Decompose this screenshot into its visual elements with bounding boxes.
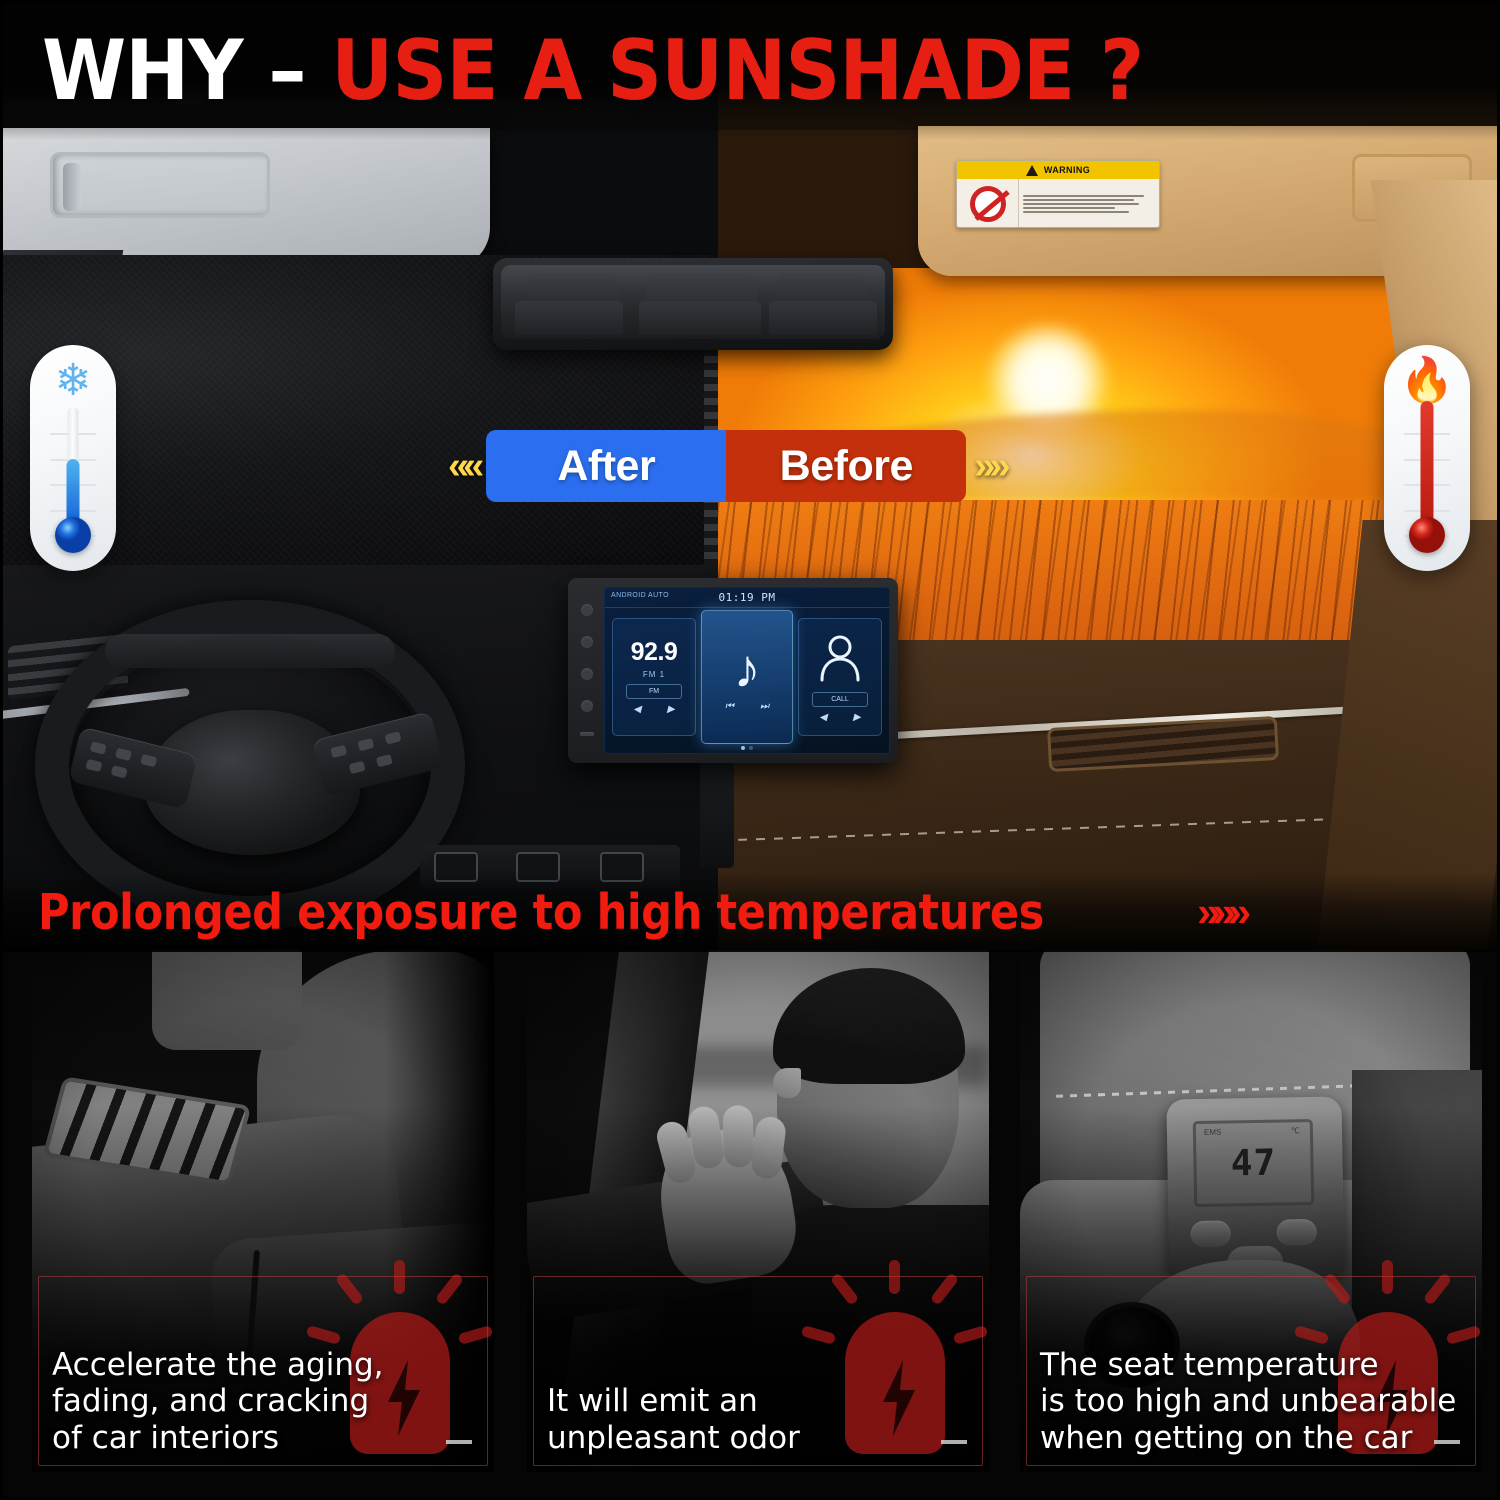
panel-caption-text: Accelerate the aging, fading, and cracki… <box>52 1347 480 1456</box>
wheel-button <box>140 754 157 767</box>
warning-label-lines <box>1019 179 1159 228</box>
visor-ticket-slot <box>50 152 270 218</box>
menu-button-icon[interactable] <box>581 636 593 648</box>
panel-unpleasant-odor: It will emit an unpleasant odor <box>527 950 989 1472</box>
radio-prev-icon[interactable]: ◀ <box>633 704 641 715</box>
panel-aging-fading-cracking: Accelerate the aging, fading, and cracki… <box>32 950 494 1472</box>
benefit-panels: Accelerate the aging, fading, and cracki… <box>0 950 1500 1500</box>
panel-caption-text: It will emit an unpleasant odor <box>547 1383 975 1456</box>
prohibition-circle <box>970 186 1006 222</box>
warning-heading: WARNING <box>1044 165 1090 175</box>
chevron-right-icon: »» <box>966 447 1012 485</box>
before-after-badge-group: «« After Before »» <box>440 430 1013 502</box>
thermometer-mercury-cold <box>67 459 80 523</box>
head-unit-screen[interactable]: ANDROID AUTO 01:19 PM 92.9 FM 1 FM ◀ ▶ <box>604 587 890 754</box>
sun-visor-grey <box>0 128 490 268</box>
panel-caption-text: The seat temperature is too high and unb… <box>1040 1347 1468 1456</box>
head-unit-mount-bracket <box>700 758 734 868</box>
apps-button-icon[interactable] <box>581 700 593 712</box>
head-unit-side-buttons[interactable] <box>576 594 598 746</box>
warning-triangle-icon <box>1026 165 1038 176</box>
media-prev-icon[interactable]: ⏮ <box>725 701 734 712</box>
wheel-button <box>357 738 374 751</box>
chevron-right-icon: »»» <box>1197 888 1243 936</box>
radio-frequency-value: 92.9 <box>631 640 678 665</box>
wheel-button <box>376 754 393 767</box>
rear-seat <box>639 301 761 335</box>
rear-seat <box>769 301 877 335</box>
caption-underscore <box>1434 1440 1460 1444</box>
wheel-button <box>111 765 128 778</box>
power-button-icon[interactable] <box>580 732 594 736</box>
wheel-button <box>90 741 107 754</box>
title-bar: WHY – USE A SUNSHADE ? <box>0 0 1500 140</box>
radio-seek-controls[interactable]: ◀ ▶ <box>633 704 674 715</box>
before-badge[interactable]: Before <box>726 430 966 502</box>
page-dot <box>749 746 753 750</box>
head-unit-clock: 01:19 PM <box>719 591 776 604</box>
warning-label-body <box>957 179 1159 228</box>
panel-seat-temperature: EMS ℃ 47 <box>1020 950 1482 1472</box>
page-title: WHY – USE A SUNSHADE ? <box>42 29 1143 112</box>
thermometer-cold: ❄ <box>30 345 116 571</box>
flame-icon: 🔥 <box>1400 359 1455 403</box>
panel-caption: It will emit an unpleasant odor <box>527 1373 989 1472</box>
wheel-button <box>85 759 102 772</box>
warning-label-header: WARNING <box>957 161 1159 179</box>
phone-nav-controls[interactable]: ◀ ▶ <box>819 712 860 723</box>
head-unit-source-label: ANDROID AUTO <box>611 592 669 599</box>
radio-preset-pill[interactable]: FM <box>626 684 682 699</box>
phone-card[interactable]: CALL ◀ ▶ <box>798 618 882 736</box>
phone-next-icon[interactable]: ▶ <box>853 712 861 723</box>
panel-caption: Accelerate the aging, fading, and cracki… <box>32 1337 494 1472</box>
mirror-glass <box>501 265 885 339</box>
rear-view-mirror <box>493 258 893 350</box>
panel-caption: The seat temperature is too high and unb… <box>1020 1337 1482 1472</box>
section-headline: Prolonged exposure to high temperatures … <box>0 872 1500 952</box>
chevron-left-icon: «« <box>440 447 486 485</box>
media-transport-controls[interactable]: ⏮ ⏭ <box>725 701 769 712</box>
title-white-part: WHY – <box>42 22 331 119</box>
radio-next-icon[interactable]: ▶ <box>667 704 675 715</box>
thermometer-bulb-cold <box>55 517 91 553</box>
caption-underscore <box>941 1440 967 1444</box>
snowflake-icon: ❄ <box>55 359 92 403</box>
media-card[interactable]: ♪ ⏮ ⏭ <box>701 610 793 744</box>
home-button-icon[interactable] <box>581 604 593 616</box>
media-next-icon[interactable]: ⏭ <box>760 701 769 712</box>
wheel-button <box>115 748 132 761</box>
infotainment-head-unit[interactable]: ANDROID AUTO 01:19 PM 92.9 FM 1 FM ◀ ▶ <box>568 578 898 763</box>
person-icon <box>817 632 863 687</box>
caption-underscore <box>446 1440 472 1444</box>
infographic-page: WARNING <box>0 0 1500 1500</box>
hero-comparison-image: WARNING <box>0 0 1500 950</box>
no-rear-facing-child-seat-icon <box>957 179 1019 228</box>
thermometer-mercury-hot <box>1421 401 1434 523</box>
rear-seat <box>515 301 623 335</box>
volume-button-icon[interactable] <box>581 668 593 680</box>
wheel-button <box>349 761 366 774</box>
after-badge[interactable]: After <box>486 430 726 502</box>
steering-wheel-top-spoke <box>105 634 395 668</box>
page-dot-active <box>741 746 745 750</box>
page-indicator-dots <box>605 746 889 750</box>
thermometer-hot: 🔥 <box>1384 345 1470 571</box>
section-headline-text: Prolonged exposure to high temperatures <box>38 884 1044 941</box>
airbag-warning-label: WARNING <box>956 160 1160 228</box>
music-note-icon: ♪ <box>734 642 761 696</box>
title-red-part: USE A SUNSHADE ? <box>331 22 1143 119</box>
wheel-button <box>330 745 347 758</box>
thermometer-bulb-hot <box>1409 517 1445 553</box>
phone-prev-icon[interactable]: ◀ <box>819 712 827 723</box>
head-unit-cards: 92.9 FM 1 FM ◀ ▶ ♪ ⏮ ⏭ <box>605 610 889 744</box>
head-unit-status-bar: ANDROID AUTO 01:19 PM <box>605 588 889 608</box>
radio-card[interactable]: 92.9 FM 1 FM ◀ ▶ <box>612 618 696 736</box>
radio-band-label: FM 1 <box>643 670 665 679</box>
wheel-button <box>385 731 402 744</box>
phone-call-pill[interactable]: CALL <box>812 692 868 707</box>
visor-slot-tab <box>63 163 81 211</box>
